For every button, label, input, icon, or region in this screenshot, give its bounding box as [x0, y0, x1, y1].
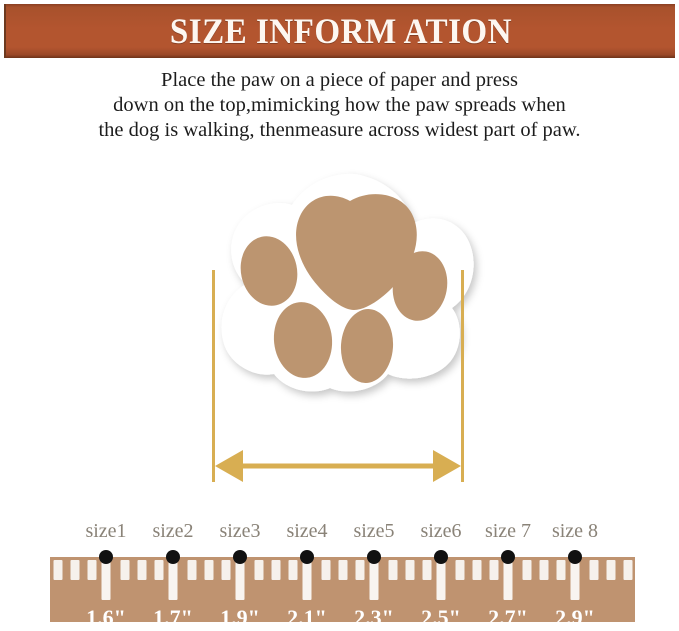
ruler-tick-minor	[204, 560, 213, 580]
size-measurement-8: 2.9"	[555, 605, 595, 631]
ruler-tick-minor	[70, 560, 79, 580]
ruler-tick-minor	[472, 560, 481, 580]
ruler-tick-minor	[355, 560, 364, 580]
ruler-tick-minor	[422, 560, 431, 580]
ruler-tick-major	[236, 558, 245, 600]
ruler-tick-minor	[556, 560, 565, 580]
size-label-8: size 8	[552, 520, 598, 543]
ruler-tick-minor	[405, 560, 414, 580]
size-measurement-5: 2.3"	[354, 605, 394, 631]
paw-diagram	[0, 160, 679, 500]
instruction-line-2: down on the top,mimicking how the paw sp…	[0, 93, 679, 118]
ruler-tick-minor	[338, 560, 347, 580]
size-measurement-3: 1.9"	[220, 605, 260, 631]
size-label-3: size3	[219, 520, 260, 543]
size-label-5: size5	[353, 520, 394, 543]
ruler-tick-minor	[389, 560, 398, 580]
ruler-tick-minor	[54, 560, 63, 580]
ruler-tick-minor	[623, 560, 632, 580]
size-label-row: size1size2size3size4size5size6size 7size…	[0, 520, 679, 548]
size-marker-dot-1	[99, 550, 113, 564]
size-label-1: size1	[85, 520, 126, 543]
ruler-tick-minor	[221, 560, 230, 580]
ruler-tick-minor	[606, 560, 615, 580]
ruler-tick-major	[437, 558, 446, 600]
size-measurement-4: 2.1"	[287, 605, 327, 631]
ruler-tick-minor	[271, 560, 280, 580]
ruler-tick-minor	[590, 560, 599, 580]
ruler-tick-minor	[87, 560, 96, 580]
width-measure-arrow-icon	[213, 448, 463, 484]
header-banner: SIZE INFORM ATION	[4, 4, 675, 58]
ruler-tick-minor	[188, 560, 197, 580]
instruction-paragraph: Place the paw on a piece of paper and pr…	[0, 68, 679, 143]
ruler-tick-minor	[456, 560, 465, 580]
size-label-6: size6	[420, 520, 461, 543]
page-title: SIZE INFORM ATION	[169, 10, 511, 52]
ruler-tick-minor	[154, 560, 163, 580]
size-measurement-1: 1.6"	[86, 605, 126, 631]
ruler-tick-major	[571, 558, 580, 600]
ruler-tick-major	[169, 558, 178, 600]
instruction-line-1: Place the paw on a piece of paper and pr…	[0, 68, 679, 93]
ruler-tick-minor	[121, 560, 130, 580]
size-marker-dot-2	[166, 550, 180, 564]
instruction-line-3: the dog is walking, thenmeasure across w…	[0, 118, 679, 143]
ruler-tick-minor	[523, 560, 532, 580]
ruler-tick-minor	[288, 560, 297, 580]
size-label-2: size2	[152, 520, 193, 543]
size-marker-dot-6	[434, 550, 448, 564]
size-measurement-6: 2.5"	[421, 605, 461, 631]
ruler-tick-minor	[137, 560, 146, 580]
size-label-4: size4	[286, 520, 327, 543]
size-measurement-7: 2.7"	[488, 605, 528, 631]
ruler-body	[50, 557, 635, 622]
size-ruler: size1size2size3size4size5size6size 7size…	[0, 520, 679, 622]
size-measurement-2: 1.7"	[153, 605, 193, 631]
size-label-7: size 7	[485, 520, 531, 543]
size-marker-dot-5	[367, 550, 381, 564]
size-marker-dot-8	[568, 550, 582, 564]
paw-print-icon	[196, 168, 496, 428]
ruler-tick-minor	[539, 560, 548, 580]
ruler-tick-minor	[255, 560, 264, 580]
ruler-tick-major	[504, 558, 513, 600]
size-marker-dot-4	[300, 550, 314, 564]
ruler-tick-major	[370, 558, 379, 600]
size-marker-dot-3	[233, 550, 247, 564]
ruler-tick-minor	[322, 560, 331, 580]
size-marker-dot-7	[501, 550, 515, 564]
ruler-tick-minor	[489, 560, 498, 580]
ruler-tick-major	[303, 558, 312, 600]
ruler-tick-major	[102, 558, 111, 600]
